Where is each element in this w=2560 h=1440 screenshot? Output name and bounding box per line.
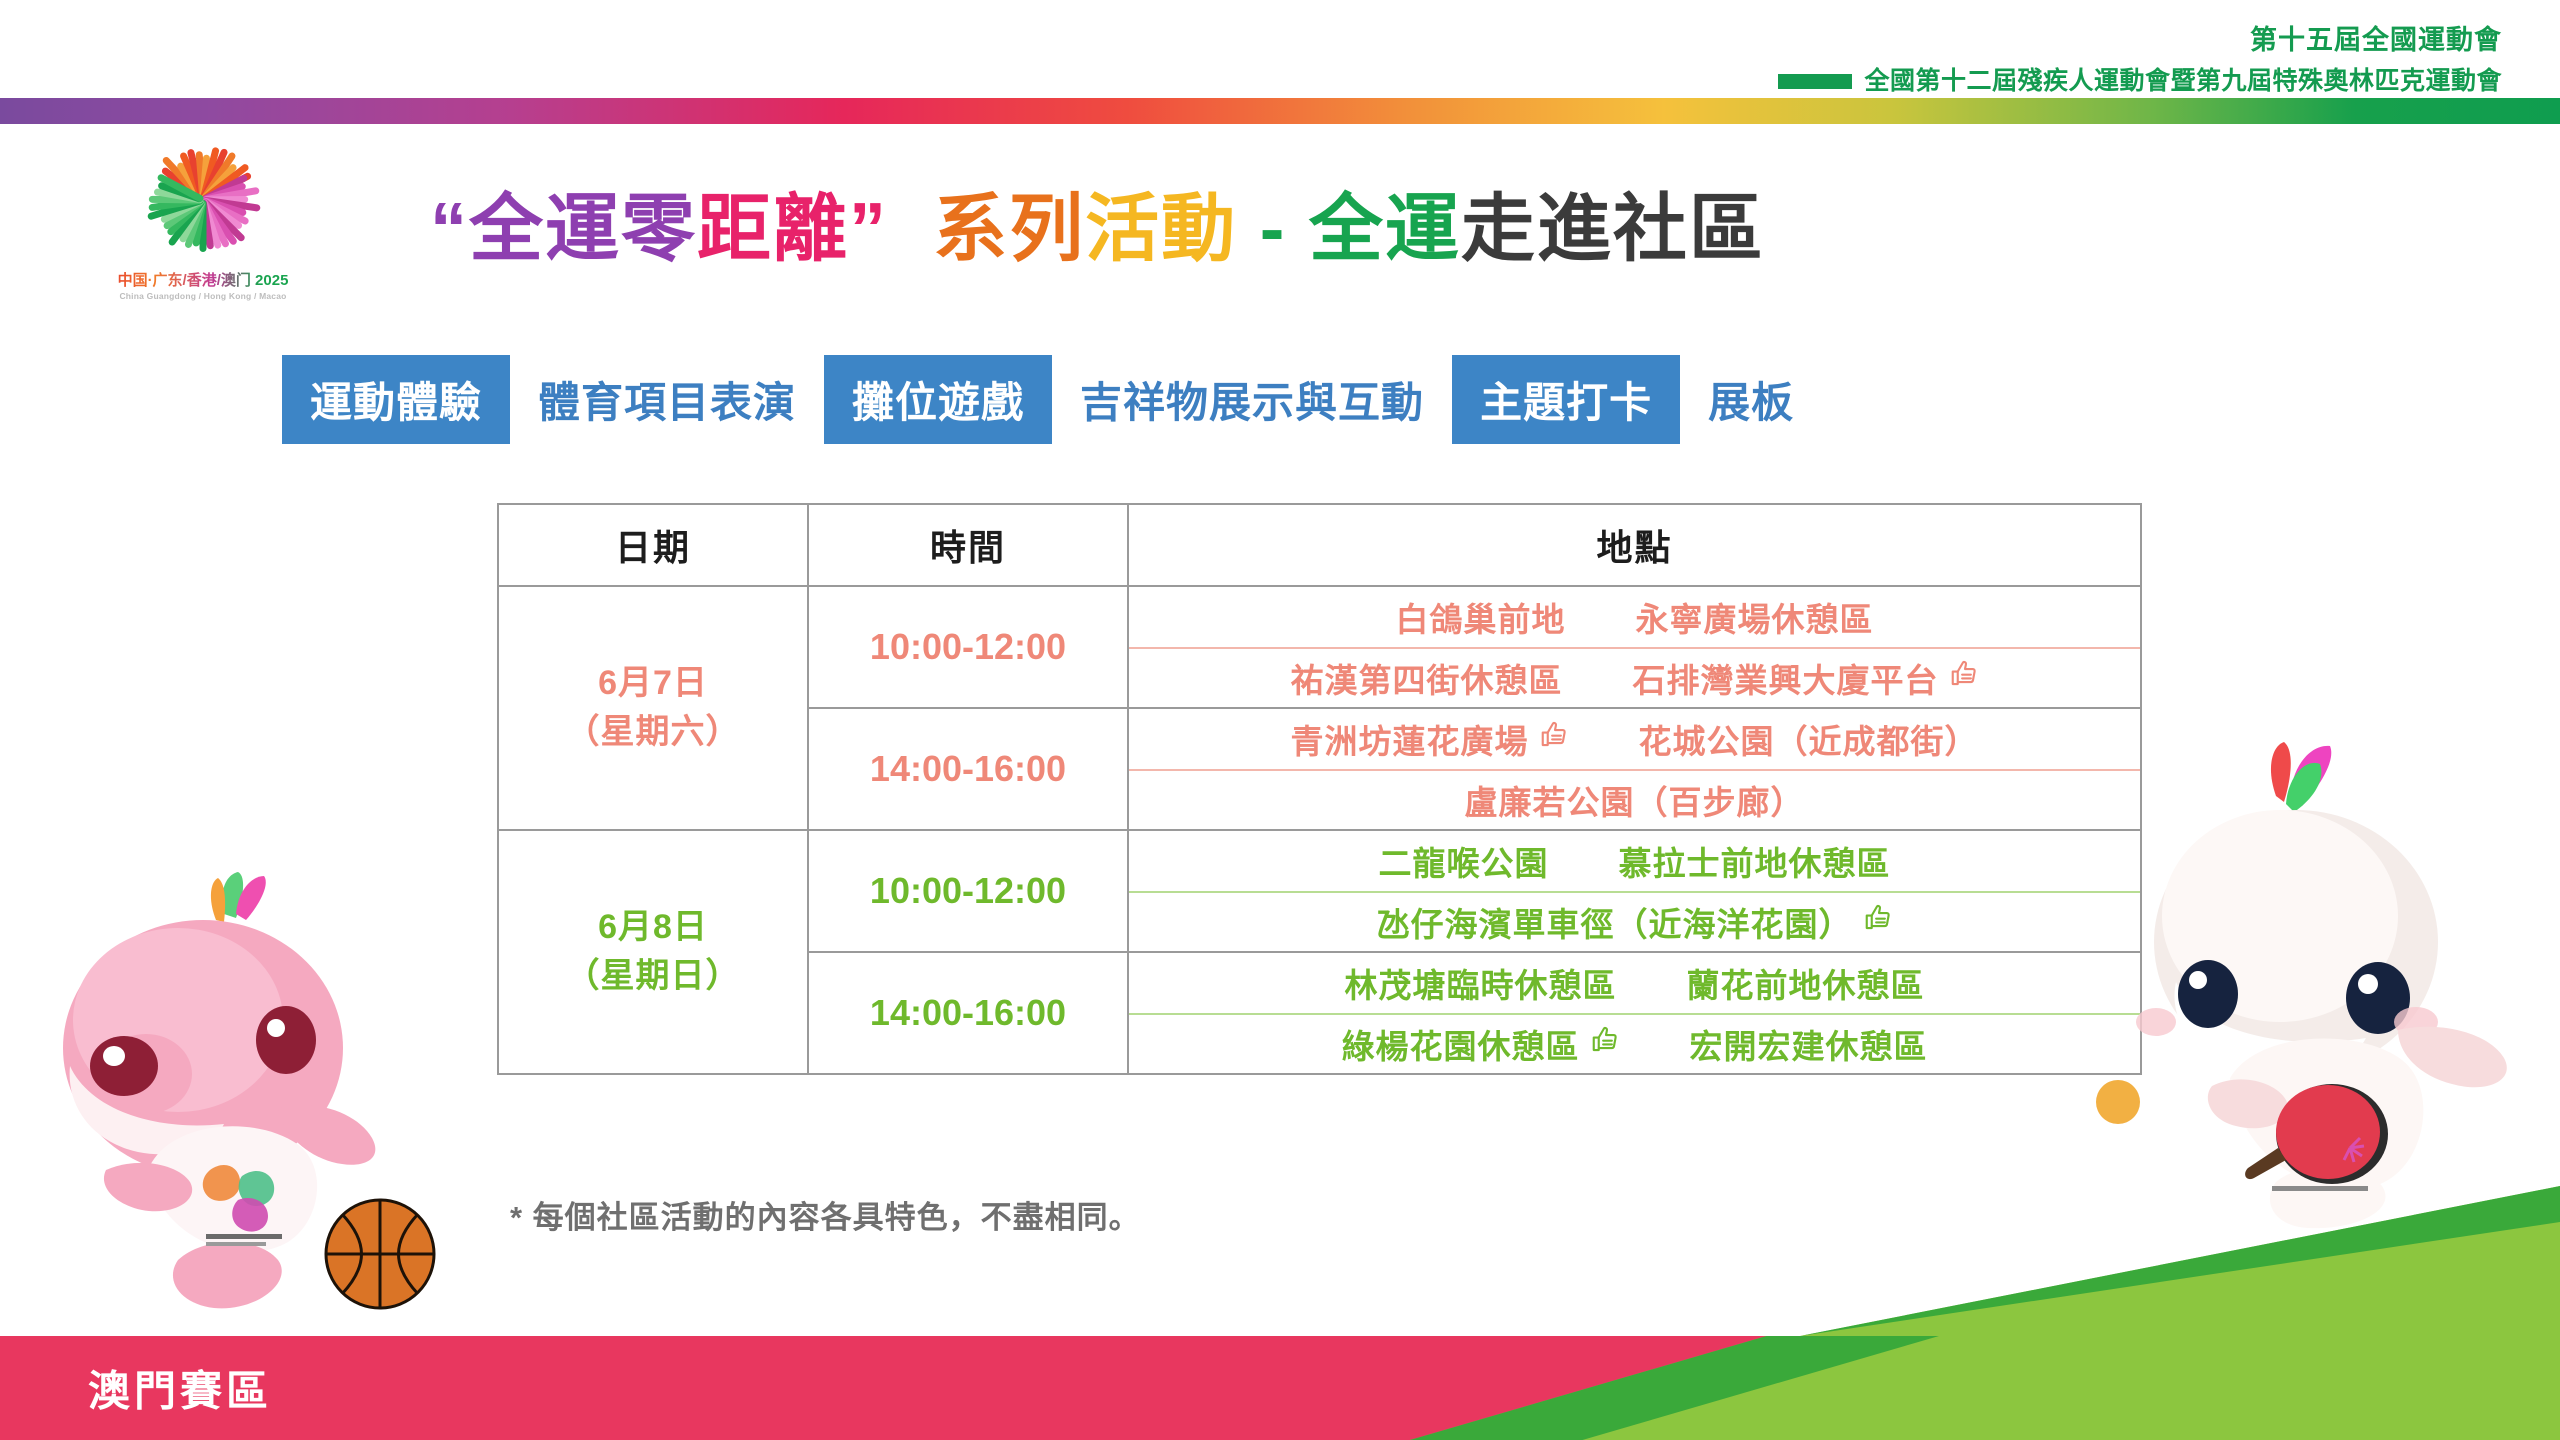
date-weekday: （星期六） bbox=[505, 708, 801, 757]
cell-date: 6月8日（星期日） bbox=[498, 830, 808, 1074]
location-item: 白鴿巢前地 bbox=[1396, 593, 1566, 641]
location-name: 林茂塘臨時休憩區 bbox=[1345, 959, 1617, 1007]
location-item: 祐漢第四街休憩區 bbox=[1291, 654, 1563, 702]
tab-label: 展板 bbox=[1708, 379, 1794, 426]
tab-label: 主題打卡 bbox=[1480, 379, 1652, 426]
tab-3[interactable]: 攤位遊戲 bbox=[824, 355, 1052, 444]
location-line: 祐漢第四街休憩區石排灣業興大廈平台 bbox=[1129, 647, 2140, 707]
table-row: 6月7日（星期六）10:00-12:00白鴿巢前地永寧廣場休憩區祐漢第四街休憩區… bbox=[498, 586, 2141, 708]
location-line: 白鴿巢前地永寧廣場休憩區 bbox=[1129, 587, 2140, 647]
date-day: 6月8日 bbox=[505, 903, 801, 952]
location-item: 氹仔海濱單車徑（近海洋花園） bbox=[1377, 898, 1893, 946]
thumbs-up-icon bbox=[1590, 1025, 1620, 1063]
location-item: 盧廉若公園（百步廊） bbox=[1465, 776, 1805, 824]
title-separator: - bbox=[1260, 187, 1287, 270]
location-line: 盧廉若公園（百步廊） bbox=[1129, 769, 2140, 829]
logo-name-cn: 中国·广东/香港/澳门 2025 bbox=[108, 269, 298, 290]
location-item: 二龍喉公園 bbox=[1379, 837, 1549, 885]
schedule-table: 日期 時間 地點 6月7日（星期六）10:00-12:00白鴿巢前地永寧廣場休憩… bbox=[497, 503, 2142, 1075]
location-item: 花城公園（近成都街） bbox=[1639, 715, 1979, 763]
cell-location: 二龍喉公園慕拉士前地休憩區氹仔海濱單車徑（近海洋花園） bbox=[1128, 830, 2141, 952]
title-part-1: 全運零 bbox=[469, 187, 697, 270]
location-line: 綠楊花園休憩區宏開宏建休憩區 bbox=[1129, 1013, 2140, 1073]
location-item: 蘭花前地休憩區 bbox=[1687, 959, 1925, 1007]
title-quote-open: “ bbox=[430, 187, 469, 270]
location-item: 宏開宏建休憩區 bbox=[1690, 1020, 1928, 1068]
location-name: 祐漢第四街休憩區 bbox=[1291, 654, 1563, 702]
tab-1[interactable]: 運動體驗 bbox=[282, 355, 510, 444]
footnote: * 每個社區活動的內容各具特色，不盡相同。 bbox=[510, 1192, 1141, 1237]
location-item: 青洲坊蓮花廣場 bbox=[1291, 715, 1569, 763]
location-line: 二龍喉公園慕拉士前地休憩區 bbox=[1129, 831, 2140, 891]
location-item: 石排灣業興大廈平台 bbox=[1633, 654, 1979, 702]
tab-label: 運動體驗 bbox=[310, 379, 482, 426]
location-name: 二龍喉公園 bbox=[1379, 837, 1549, 885]
games-title-line2: 全國第十二屆殘疾人運動會暨第九屆特殊奧林匹克運動會 bbox=[1864, 66, 2502, 97]
location-name: 白鴿巢前地 bbox=[1396, 593, 1566, 641]
cell-date: 6月7日（星期六） bbox=[498, 586, 808, 830]
tab-label: 體育項目表演 bbox=[538, 379, 796, 426]
location-name: 盧廉若公園（百步廊） bbox=[1465, 776, 1805, 824]
title-part-5: 全運 bbox=[1309, 187, 1461, 270]
tab-4[interactable]: 吉祥物展示與互動 bbox=[1052, 355, 1452, 444]
schedule-table-wrap: 日期 時間 地點 6月7日（星期六）10:00-12:00白鴿巢前地永寧廣場休憩… bbox=[497, 503, 2142, 1075]
location-name: 永寧廣場休憩區 bbox=[1636, 593, 1874, 641]
table-header-row: 日期 時間 地點 bbox=[498, 504, 2141, 586]
location-line: 青洲坊蓮花廣場花城公園（近成都街） bbox=[1129, 709, 2140, 769]
cell-location: 青洲坊蓮花廣場花城公園（近成都街）盧廉若公園（百步廊） bbox=[1128, 708, 2141, 830]
tab-2[interactable]: 體育項目表演 bbox=[510, 355, 824, 444]
tab-5[interactable]: 主題打卡 bbox=[1452, 355, 1680, 444]
location-name: 花城公園（近成都街） bbox=[1639, 715, 1979, 763]
logo-burst-icon bbox=[123, 132, 283, 267]
page-title: “全運零距離” 系列活動 - 全運走進社區 bbox=[430, 185, 1765, 274]
cell-time: 14:00-16:00 bbox=[808, 952, 1128, 1074]
cell-location: 白鴿巢前地永寧廣場休憩區祐漢第四街休憩區石排灣業興大廈平台 bbox=[1128, 586, 2141, 708]
cell-location: 林茂塘臨時休憩區蘭花前地休憩區綠楊花園休憩區宏開宏建休憩區 bbox=[1128, 952, 2141, 1074]
poster-canvas: 第十五屆全國運動會 全國第十二屆殘疾人運動會暨第九屆特殊奧林匹克運動會 中国·广… bbox=[0, 0, 2560, 1440]
bottom-banner: 澳門賽區 bbox=[0, 1336, 2560, 1440]
logo-name-en: China Guangdong / Hong Kong / Macao bbox=[108, 291, 298, 301]
location-name: 慕拉士前地休憩區 bbox=[1619, 837, 1891, 885]
location-line: 林茂塘臨時休憩區蘭花前地休憩區 bbox=[1129, 953, 2140, 1013]
title-part-3: 系列 bbox=[933, 187, 1085, 270]
games-title-line1: 第十五屆全國運動會 bbox=[1778, 24, 2502, 58]
top-gradient-bar bbox=[0, 98, 2560, 124]
date-weekday: （星期日） bbox=[505, 952, 801, 1001]
tab-label: 攤位遊戲 bbox=[852, 379, 1024, 426]
location-item: 永寧廣場休憩區 bbox=[1636, 593, 1874, 641]
location-line: 氹仔海濱單車徑（近海洋花園） bbox=[1129, 891, 2140, 951]
location-name: 宏開宏建休憩區 bbox=[1690, 1020, 1928, 1068]
thumbs-up-icon bbox=[1539, 720, 1569, 758]
location-name: 氹仔海濱單車徑（近海洋花園） bbox=[1377, 898, 1853, 946]
table-row: 6月8日（星期日）10:00-12:00二龍喉公園慕拉士前地休憩區氹仔海濱單車徑… bbox=[498, 830, 2141, 952]
location-item: 林茂塘臨時休憩區 bbox=[1345, 959, 1617, 1007]
title-part-2: 距離 bbox=[697, 187, 849, 270]
green-dash-marker bbox=[1778, 74, 1852, 89]
pink-dolphin-mascot-basketball bbox=[28, 870, 458, 1330]
white-dolphin-mascot-table-tennis bbox=[2080, 730, 2530, 1230]
cell-time: 14:00-16:00 bbox=[808, 708, 1128, 830]
event-logo: 中国·广东/香港/澳门 2025 China Guangdong / Hong … bbox=[108, 132, 298, 322]
column-header-date: 日期 bbox=[498, 504, 808, 586]
tab-label: 吉祥物展示與互動 bbox=[1080, 379, 1424, 426]
logo-caption: 中国·广东/香港/澳门 2025 China Guangdong / Hong … bbox=[108, 269, 298, 301]
location-name: 綠楊花園休憩區 bbox=[1342, 1020, 1580, 1068]
column-header-time: 時間 bbox=[808, 504, 1128, 586]
location-name: 石排灣業興大廈平台 bbox=[1633, 654, 1939, 702]
activity-tabs[interactable]: 運動體驗體育項目表演攤位遊戲吉祥物展示與互動主題打卡展板 bbox=[282, 355, 1822, 444]
games-header: 第十五屆全國運動會 全國第十二屆殘疾人運動會暨第九屆特殊奧林匹克運動會 bbox=[1778, 24, 2502, 97]
cell-time: 10:00-12:00 bbox=[808, 830, 1128, 952]
date-day: 6月7日 bbox=[505, 659, 801, 708]
thumbs-up-icon bbox=[1863, 903, 1893, 941]
column-header-location: 地點 bbox=[1128, 504, 2141, 586]
tab-6[interactable]: 展板 bbox=[1680, 355, 1822, 444]
location-name: 蘭花前地休憩區 bbox=[1687, 959, 1925, 1007]
thumbs-up-icon bbox=[1949, 659, 1979, 697]
title-quote-close: ” bbox=[849, 187, 888, 270]
location-item: 慕拉士前地休憩區 bbox=[1619, 837, 1891, 885]
location-name: 青洲坊蓮花廣場 bbox=[1291, 715, 1529, 763]
cell-time: 10:00-12:00 bbox=[808, 586, 1128, 708]
region-label: 澳門賽區 bbox=[88, 1358, 272, 1419]
location-item: 綠楊花園休憩區 bbox=[1342, 1020, 1620, 1068]
title-part-6: 走進社區 bbox=[1461, 187, 1765, 270]
title-part-4: 活動 bbox=[1085, 187, 1237, 270]
